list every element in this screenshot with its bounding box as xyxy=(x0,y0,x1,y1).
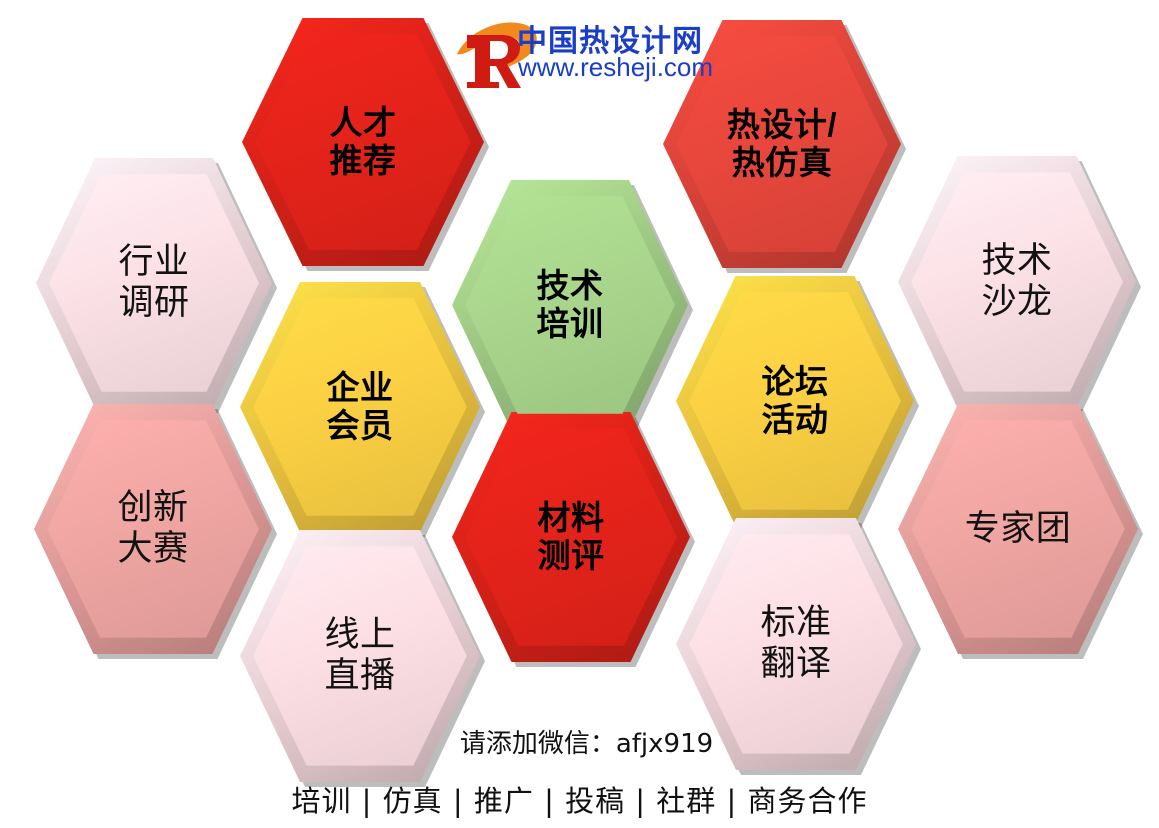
hex-tile-material-evaluation[interactable]: 材料 测评 xyxy=(452,412,690,662)
hex-tile-industry-research[interactable]: 行业 调研 xyxy=(36,158,272,408)
hex-tile-innovation-contest[interactable]: 创新 大赛 xyxy=(34,404,272,654)
hex-tile-corporate-membership[interactable]: 企业 会员 xyxy=(240,282,480,532)
site-logo: 中国热设计网 www.resheji.com xyxy=(455,14,695,92)
hex-tile-label: 论坛 活动 xyxy=(762,363,829,440)
hex-tile-label: 技术 培训 xyxy=(537,267,604,344)
hex-tile-label: 材料 测评 xyxy=(538,499,605,576)
hex-tile-forum-activity[interactable]: 论坛 活动 xyxy=(676,276,914,526)
wechat-contact-line: 请添加微信：afjx919 xyxy=(0,723,1159,760)
wechat-contact-text: 请添加微信：afjx919 xyxy=(446,729,713,759)
hex-tile-expert-team[interactable]: 专家团 xyxy=(898,404,1138,654)
hex-tile-label: 创新 大赛 xyxy=(117,488,188,569)
hex-tile-talent-recommendation[interactable]: 人才 推荐 xyxy=(242,18,484,266)
hex-tile-label: 标准 翻译 xyxy=(760,603,831,684)
hex-tile-label: 企业 会员 xyxy=(327,369,394,446)
hex-tile-label: 行业 调研 xyxy=(118,242,189,323)
logo-site-url: www.resheji.com xyxy=(518,52,713,83)
hex-tile-label: 人才 推荐 xyxy=(330,104,397,181)
hex-tile-label: 热设计/ 热仿真 xyxy=(727,106,837,183)
services-list-line: 培训 | 仿真 | 推广 | 投稿 | 社群 | 商务合作 xyxy=(0,778,1159,820)
hex-tile-tech-salon[interactable]: 技术 沙龙 xyxy=(898,156,1136,408)
hex-tile-label: 专家团 xyxy=(965,509,1072,550)
infographic-canvas: 人才 推荐热设计/ 热仿真行业 调研技术 培训技术 沙龙企业 会员论坛 活动创新… xyxy=(0,0,1159,828)
hex-tile-tech-training[interactable]: 技术 培训 xyxy=(452,180,688,430)
hex-tile-label: 技术 沙龙 xyxy=(981,241,1052,322)
hex-tile-label: 线上 直播 xyxy=(324,615,395,696)
